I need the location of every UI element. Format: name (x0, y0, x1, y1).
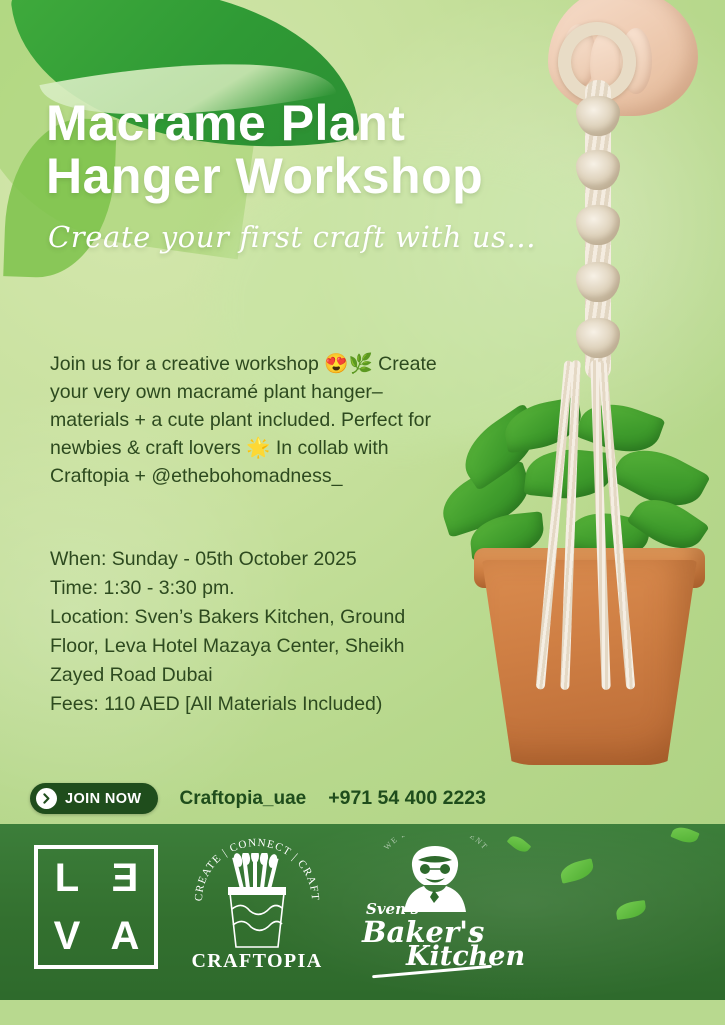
macrame-strand (560, 360, 581, 690)
bottom-strip (0, 1000, 725, 1025)
leva-letter-a: A (111, 916, 140, 956)
craftopia-wordmark: CRAFTOPIA (191, 950, 322, 973)
contact-bar: JOIN NOW Craftopia_uae +971 54 400 2223 (30, 783, 486, 814)
arrow-right-circle-icon (36, 788, 57, 809)
svens-bakers-kitchen-logo: WE LIVE TO PRESENT (356, 836, 516, 978)
svens-wordmark: Sven's Baker's Kitchen (362, 902, 525, 970)
leva-letter-l: L (55, 858, 79, 898)
event-details: When: Sunday - 05th October 2025 Time: 1… (50, 545, 450, 719)
event-when: When: Sunday - 05th October 2025 (50, 545, 450, 574)
plant-leaf (566, 504, 652, 566)
finger-1 (562, 24, 596, 88)
terracotta-pot (482, 560, 697, 765)
page-title: Macrame Plant Hanger Workshop (46, 97, 656, 203)
phone-number[interactable]: +971 54 400 2223 (328, 787, 486, 810)
paint-brushes-jar-icon (220, 853, 294, 949)
leva-letter-e-flip: Ǝ (112, 858, 139, 898)
craftopia-logo: CREATE | CONNECT | CRAFT (192, 837, 322, 977)
title-line-1: Macrame Plant (46, 97, 656, 150)
wooden-ring-icon (558, 22, 636, 102)
event-fees: Fees: 110 AED [All Materials Included) (50, 690, 450, 719)
pot-rim (474, 548, 705, 588)
tagline: Create your first craft with us... (48, 220, 536, 254)
title-line-2: Hanger Workshop (46, 150, 656, 203)
macrame-strand (598, 360, 636, 690)
event-time: Time: 1:30 - 3:30 pm. (50, 574, 450, 603)
leva-logo: L Ǝ V A (34, 845, 158, 969)
finger-2 (590, 30, 624, 100)
macrame-strand (590, 360, 611, 690)
finger-3 (620, 28, 652, 94)
join-now-button[interactable]: JOIN NOW (30, 783, 158, 814)
instagram-handle[interactable]: Craftopia_uae (180, 788, 307, 810)
leva-letter-v: V (54, 916, 81, 956)
plant-leaf (609, 435, 710, 520)
footer-band: L Ǝ V A CREATE | CONNECT | CRAFT (0, 824, 725, 1000)
macrame-strands (550, 360, 660, 690)
poster: Macrame Plant Hanger Workshop Create you… (0, 0, 725, 1025)
event-location: Location: Sven’s Bakers Kitchen, Ground … (50, 603, 450, 690)
intro-paragraph: Join us for a creative workshop 😍🌿 Creat… (50, 350, 450, 490)
pot-soil (500, 556, 678, 576)
plant-leaf (524, 445, 615, 504)
join-now-label: JOIN NOW (65, 791, 142, 807)
svens-name-line3: Kitchen (406, 943, 525, 970)
partner-logos: L Ǝ V A CREATE | CONNECT | CRAFT (34, 836, 516, 978)
plant-leaf (575, 393, 666, 464)
plant-leaf (468, 511, 546, 561)
plant-leaf (626, 486, 709, 561)
